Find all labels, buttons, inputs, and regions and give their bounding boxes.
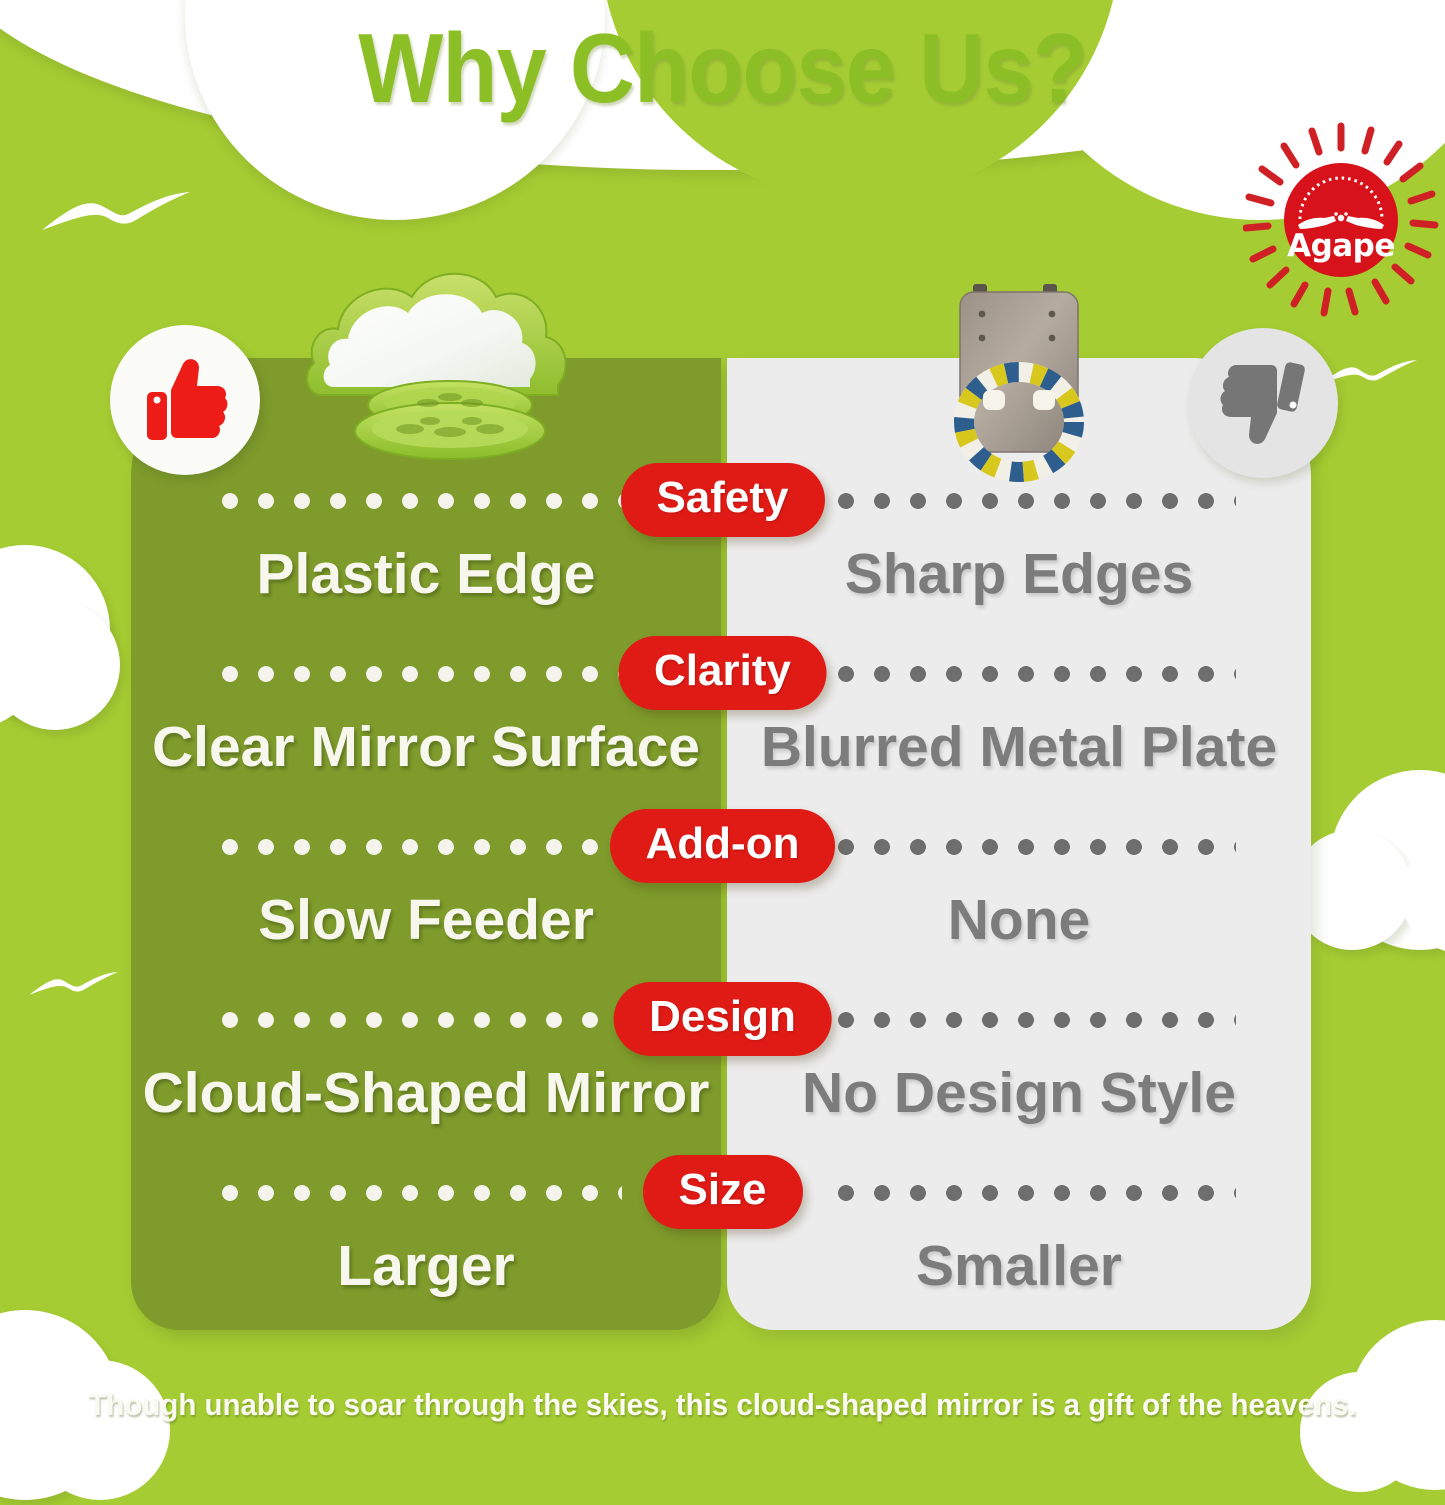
dot-connector-right (838, 839, 1236, 855)
row-label-pill: Safety (620, 463, 824, 537)
dot-connector-right (838, 1012, 1236, 1028)
dot-connector-right (838, 1185, 1236, 1201)
pros-value: Larger (131, 1233, 721, 1299)
pros-value: Slow Feeder (131, 887, 721, 953)
cons-value: Smaller (727, 1233, 1311, 1299)
dot-connector-left (222, 493, 622, 509)
dot-connector-left (222, 666, 622, 682)
pros-value: Cloud-Shaped Mirror (131, 1060, 721, 1126)
pros-value: Clear Mirror Surface (131, 714, 721, 780)
pros-value: Plastic Edge (131, 541, 721, 607)
row-label-pill: Add-on (610, 809, 836, 883)
footer-caption: Though unable to soar through the skies,… (36, 1387, 1409, 1423)
cons-value: No Design Style (727, 1060, 1311, 1126)
thumbs-down-icon (1188, 328, 1338, 478)
cons-value: None (727, 887, 1311, 953)
comparison-table: Safety Plastic Edge Sharp Edges Clarity … (0, 0, 1445, 1445)
brand-logo: Agape (1243, 122, 1439, 318)
dot-connector-right (838, 493, 1236, 509)
row-label-pill: Clarity (618, 636, 827, 710)
dot-connector-left (222, 1185, 622, 1201)
dot-connector-left (222, 839, 622, 855)
cons-value: Sharp Edges (727, 541, 1311, 607)
dot-connector-left (222, 1012, 622, 1028)
row-label-pill: Design (613, 982, 832, 1056)
handshake-paw-icon (1284, 163, 1398, 277)
row-label-pill: Size (642, 1155, 802, 1229)
cons-value: Blurred Metal Plate (727, 714, 1311, 780)
dot-connector-right (838, 666, 1236, 682)
thumbs-up-icon (110, 325, 260, 475)
